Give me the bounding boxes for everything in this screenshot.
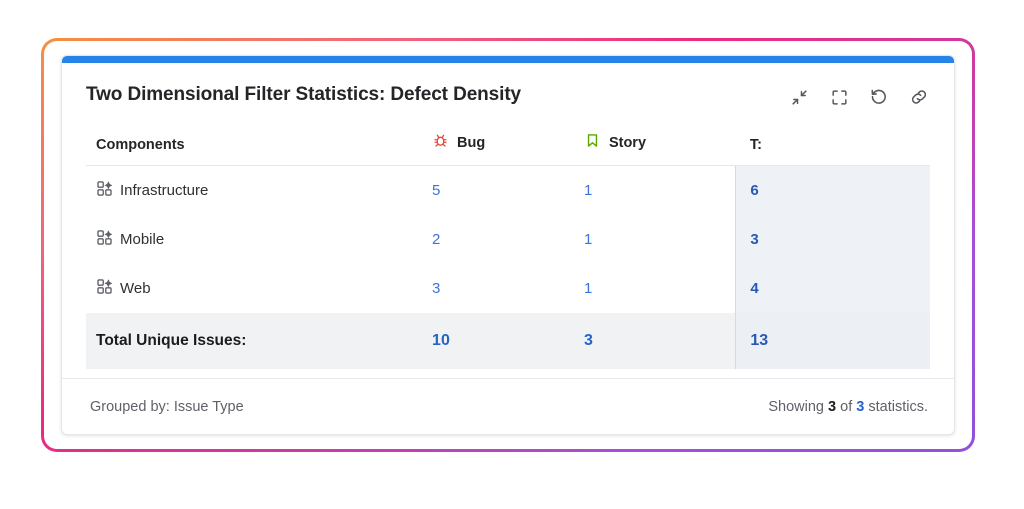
column-header-components[interactable]: Components: [86, 132, 432, 166]
table-row[interactable]: Mobile 2 1 3: [86, 215, 930, 264]
cell-row-total: 3: [736, 215, 930, 264]
showing-suffix: statistics.: [864, 399, 928, 415]
total-row-label: Total Unique Issues:: [86, 313, 432, 369]
card-footer: Grouped by: Issue Type Showing 3 of 3 st…: [62, 378, 954, 434]
cell-story-count: 1: [584, 166, 736, 216]
card-body: Two Dimensional Filter Statistics: Defec…: [62, 63, 954, 369]
grouped-by-label: Grouped by: Issue Type: [90, 399, 244, 415]
component-icon: [96, 229, 113, 250]
column-header-story-label: Story: [609, 135, 646, 151]
component-icon: [96, 278, 113, 299]
table-row[interactable]: Web 3 1 4: [86, 264, 930, 313]
column-header-total[interactable]: T:: [736, 132, 930, 166]
component-label: Web: [120, 280, 151, 297]
card-header: Two Dimensional Filter Statistics: Defec…: [86, 83, 930, 114]
total-bug-value: 10: [432, 332, 450, 349]
column-header-components-label: Components: [96, 137, 185, 153]
table-header-row: Components: [86, 132, 930, 166]
component-icon: [96, 180, 113, 201]
cell-component: Mobile: [86, 215, 432, 264]
total-bug-count: 10: [432, 313, 584, 369]
statistics-table-wrap: Components: [86, 132, 930, 369]
column-header-total-label: T:: [750, 137, 762, 153]
total-story-count: 3: [584, 313, 736, 369]
table-head: Components: [86, 132, 930, 166]
cell-story-count: 1: [584, 215, 736, 264]
card-accent-bar: [62, 56, 954, 63]
column-header-bug-label: Bug: [457, 135, 485, 151]
bug-icon: [432, 132, 449, 153]
column-header-bug[interactable]: Bug: [432, 132, 584, 166]
link-icon[interactable]: [908, 86, 930, 108]
showing-prefix: Showing: [768, 399, 828, 415]
showing-count: 3: [828, 399, 836, 415]
column-header-story[interactable]: Story: [584, 132, 736, 166]
showing-of: of: [836, 399, 856, 415]
table-row[interactable]: Infrastructure 5 1 6: [86, 166, 930, 216]
cell-component: Infrastructure: [86, 166, 432, 216]
table-body: Infrastructure 5 1 6: [86, 166, 930, 370]
statistics-card: Two Dimensional Filter Statistics: Defec…: [61, 55, 955, 435]
showing-statistics-label: Showing 3 of 3 statistics.: [768, 399, 928, 415]
total-story-value: 3: [584, 332, 593, 349]
header-actions: [788, 83, 930, 108]
table-total-row: Total Unique Issues: 10 3 13: [86, 313, 930, 369]
fullscreen-icon[interactable]: [828, 86, 850, 108]
cell-story-count: 1: [584, 264, 736, 313]
grand-total-count: 13: [736, 313, 930, 369]
component-label: Infrastructure: [120, 182, 208, 199]
page-title: Two Dimensional Filter Statistics: Defec…: [86, 83, 521, 107]
cell-row-total: 4: [736, 264, 930, 313]
bookmark-icon: [584, 132, 601, 153]
cell-bug-count: 5: [432, 166, 584, 216]
statistics-table: Components: [86, 132, 930, 369]
cell-component: Web: [86, 264, 432, 313]
component-label: Mobile: [120, 231, 164, 248]
collapse-icon[interactable]: [788, 86, 810, 108]
cell-bug-count: 2: [432, 215, 584, 264]
cell-bug-count: 3: [432, 264, 584, 313]
cell-row-total: 6: [736, 166, 930, 216]
refresh-icon[interactable]: [868, 86, 890, 108]
